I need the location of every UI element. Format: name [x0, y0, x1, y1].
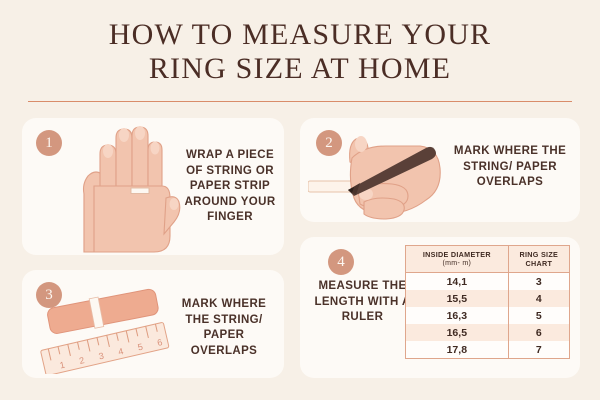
cell-size: 5: [508, 307, 569, 324]
cell-size: 7: [508, 341, 569, 359]
step-card-1: 1: [22, 118, 284, 255]
ring-size-table: INSIDE DIAMETER (mm- m) RING SIZE CHART …: [405, 245, 570, 359]
page-title-line-1: HOW TO MEASURE YOUR: [109, 18, 492, 51]
cell-size: 4: [508, 290, 569, 307]
cell-size: 6: [508, 324, 569, 341]
step-badge-1: 1: [36, 130, 62, 156]
step-caption-2: MARK WHERE THE STRING/ PAPER OVERLAPS: [450, 144, 570, 191]
table-row: 14,1 3: [406, 273, 570, 291]
table-row: 17,8 7: [406, 341, 570, 359]
cell-size: 3: [508, 273, 569, 291]
table-header-diameter-main: INSIDE DIAMETER: [423, 250, 491, 259]
hand-with-string-icon: [70, 124, 182, 255]
paper-strip-with-ruler-icon: 1 2 3 4 5 6: [40, 278, 170, 374]
cell-diameter: 17,8: [406, 341, 509, 359]
table-row: 16,5 6: [406, 324, 570, 341]
page-title: HOW TO MEASURE YOUR RING SIZE AT HOME: [0, 18, 600, 86]
step-card-2: 2 MARK WHERE THE STRING/ PAPER OV: [300, 118, 580, 222]
table-row: 15,5 4: [406, 290, 570, 307]
step-caption-4: MEASURE THE LENGTH WITH A RULER: [310, 279, 415, 326]
table-row: 16,3 5: [406, 307, 570, 324]
title-divider: [28, 101, 572, 102]
cell-diameter: 16,5: [406, 324, 509, 341]
hand-holding-pencil-icon: [308, 124, 458, 222]
step-caption-1: WRAP A PIECE OF STRING OR PAPER STRIP AR…: [182, 148, 278, 226]
table-header-diameter: INSIDE DIAMETER (mm- m): [406, 246, 509, 273]
step-card-3: 3 1 2 3: [22, 270, 284, 378]
step-caption-3: MARK WHERE THE STRING/ PAPER OVERLAPS: [170, 297, 278, 359]
cell-diameter: 16,3: [406, 307, 509, 324]
table-header-row: INSIDE DIAMETER (mm- m) RING SIZE CHART: [406, 246, 570, 273]
infographic-root: HOW TO MEASURE YOUR RING SIZE AT HOME 1: [0, 0, 600, 400]
page-title-line-2: RING SIZE AT HOME: [0, 52, 600, 86]
cell-diameter: 15,5: [406, 290, 509, 307]
step-badge-4: 4: [328, 249, 354, 275]
cell-diameter: 14,1: [406, 273, 509, 291]
table-header-size: RING SIZE CHART: [508, 246, 569, 273]
table-header-size-line-1: RING SIZE: [519, 250, 558, 259]
table-header-size-line-2: CHART: [511, 259, 567, 268]
step-card-4: 4 MEASURE THE LENGTH WITH A RULER INSIDE…: [300, 237, 580, 378]
table-header-diameter-sub: (mm- m): [408, 259, 506, 268]
